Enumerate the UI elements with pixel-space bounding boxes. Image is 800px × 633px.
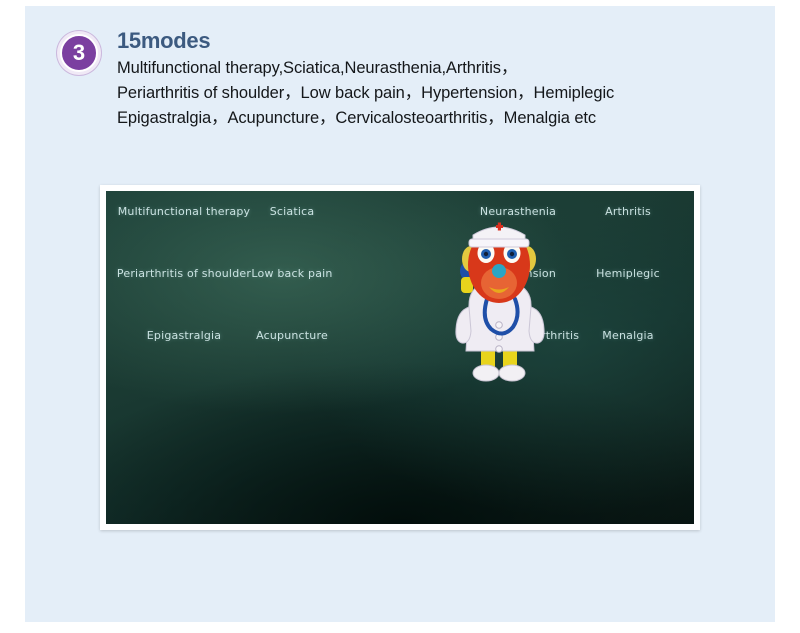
- mode-label-menalgia[interactable]: Menalgia: [602, 329, 653, 342]
- description-line-1: Multifunctional therapy,Sciatica,Neurast…: [117, 56, 757, 81]
- step-badge-number: 3: [60, 34, 98, 72]
- mode-label-grid: Multifunctional therapy Sciatica Neurast…: [106, 205, 694, 365]
- modes-description: Multifunctional therapy,Sciatica,Neurast…: [117, 56, 757, 131]
- mode-label-low-back-pain[interactable]: Low back pain: [251, 267, 332, 280]
- mode-label-sciatica[interactable]: Sciatica: [270, 205, 315, 218]
- cartoon-doctor-mascot: [439, 213, 559, 391]
- step-badge: 3: [57, 31, 101, 75]
- device-panel-frame: Multifunctional therapy Sciatica Neurast…: [100, 185, 700, 530]
- device-screen: Multifunctional therapy Sciatica Neurast…: [106, 191, 694, 524]
- mode-label-arthritis[interactable]: Arthritis: [605, 205, 651, 218]
- mode-label-epigastralgia[interactable]: Epigastralgia: [147, 329, 221, 342]
- mode-label-multifunctional-therapy[interactable]: Multifunctional therapy: [118, 205, 251, 218]
- mode-label-acupuncture[interactable]: Acupuncture: [256, 329, 328, 342]
- slide-canvas: 3 15modes Multifunctional therapy,Sciati…: [25, 6, 775, 622]
- description-line-3: Epigastralgia，Acupuncture，Cervicalosteoa…: [117, 106, 757, 131]
- page-title: 15modes: [117, 28, 210, 54]
- mode-label-periarthritis-of-shoulder[interactable]: Periarthritis of shoulder: [117, 267, 251, 280]
- description-line-2: Periarthritis of shoulder，Low back pain，…: [117, 81, 757, 106]
- mode-label-hemiplegic[interactable]: Hemiplegic: [596, 267, 660, 280]
